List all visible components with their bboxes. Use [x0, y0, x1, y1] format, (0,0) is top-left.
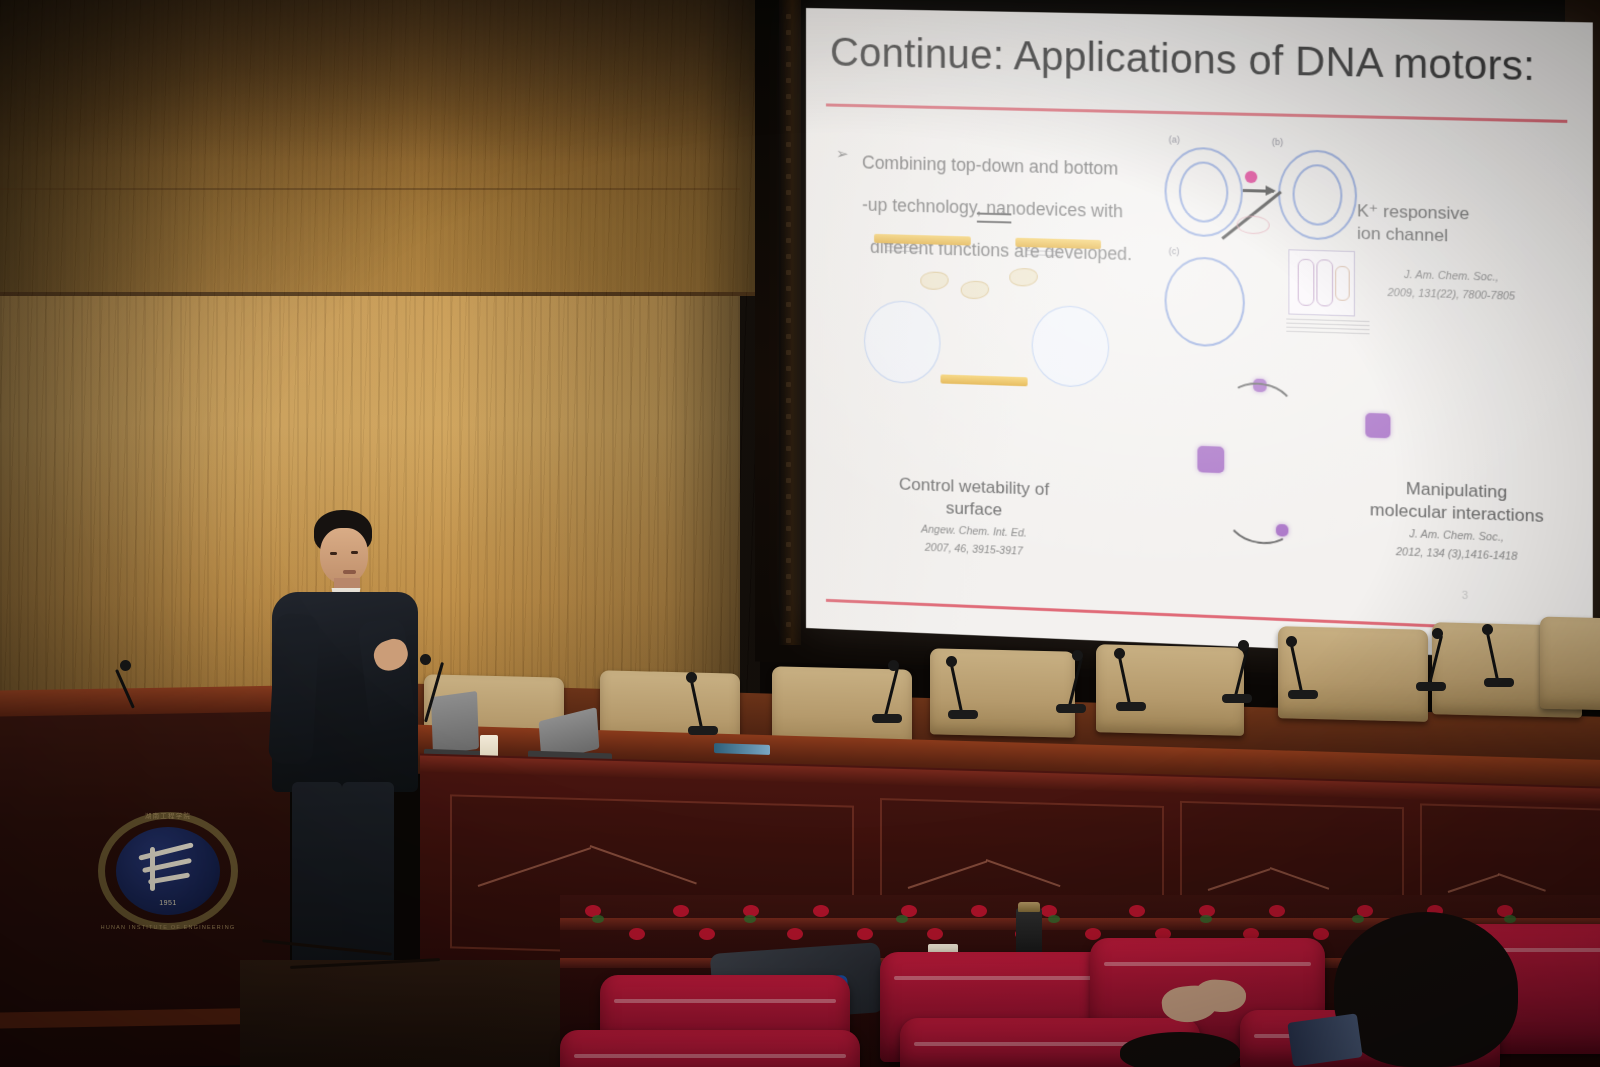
protein-blob-3 [1009, 268, 1037, 287]
tablet-device [714, 743, 770, 755]
slide-rule-top [826, 103, 1567, 123]
batten-perforation [786, 270, 791, 275]
audience-person-head-2 [1120, 1032, 1240, 1067]
caption-molecular-ref1: J. Am. Chem. Soc., [1347, 526, 1568, 548]
emblem-year: 1951 [116, 900, 220, 907]
lectern-top-surface [0, 685, 295, 716]
batten-perforation [786, 590, 791, 595]
batten-perforation [786, 430, 791, 435]
audience-seat-piping [614, 999, 836, 1003]
thermos-cap [1018, 902, 1040, 912]
batten-perforation [786, 366, 791, 371]
inset-structure-box [1288, 249, 1355, 316]
reaction-arrow-icon [1243, 189, 1274, 193]
table-microphone-head [946, 656, 957, 667]
batten-perforation [786, 158, 791, 163]
batten-perforation [786, 110, 791, 115]
table-microphone-base [948, 710, 978, 719]
batten-perforation [786, 46, 791, 51]
flower-decoration [1313, 928, 1329, 940]
batten-perforation [786, 190, 791, 195]
batten-perforation [786, 94, 791, 99]
batten-perforation [786, 206, 791, 211]
batten-perforation [786, 318, 791, 323]
slide-page-number: 3 [1462, 590, 1468, 603]
flower-decoration [1269, 905, 1285, 917]
head-table-chair [1540, 617, 1600, 712]
projection-screen: Continue: Applications of DNA motors: ➢ … [806, 8, 1593, 662]
screen-side-batten [779, 0, 801, 645]
cycle-arrow-bottom-icon [1223, 489, 1298, 549]
table-microphone-head [1238, 640, 1249, 651]
batten-perforation [786, 222, 791, 227]
batten-perforation [786, 526, 791, 531]
batten-perforation [786, 254, 791, 259]
batten-perforation [786, 126, 791, 131]
leaf-decoration [744, 915, 756, 923]
table-microphone-head [686, 672, 697, 683]
slide-title: Continue: Applications of DNA motors: [830, 30, 1582, 91]
table-microphone-base [872, 714, 902, 723]
batten-perforation [786, 142, 791, 147]
imotif-callout-left [864, 300, 940, 385]
gold-substrate-bottom [941, 374, 1028, 386]
batten-perforation [786, 174, 791, 179]
wall-panel-upper [0, 0, 760, 296]
caption-ion-channel: K⁺ responsive ion channel J. Am. Chem. S… [1357, 200, 1546, 305]
wall-seam-secondary [0, 188, 740, 190]
cargo-molecule-bottom [1276, 524, 1288, 537]
batten-perforation [786, 334, 791, 339]
protein-blob-2 [961, 280, 989, 299]
table-microphone-head [1114, 648, 1125, 659]
table-microphone-head [1072, 650, 1083, 661]
table-microphone-base [1056, 704, 1086, 713]
lectern-microphone-head [120, 660, 131, 671]
figure-wetability [864, 181, 1107, 390]
cycle-arrow-top-icon [1223, 377, 1298, 437]
wall-seam [0, 292, 755, 296]
caption-ion-channel-ref2: 2009, 131(22), 7800-7805 [1357, 286, 1546, 305]
presenter-face [320, 528, 368, 584]
table-microphone-base [1484, 678, 1514, 687]
table-microphone-base [1416, 682, 1446, 691]
protein-blob-1 [920, 271, 948, 290]
leaf-decoration [896, 915, 908, 923]
emblem-disc: 1951 [116, 827, 220, 915]
batten-perforation [786, 462, 791, 467]
equilibrium-arrow-icon [977, 213, 1011, 216]
flower-decoration [787, 928, 803, 940]
batten-perforation [786, 510, 791, 515]
audience-seat-piping [574, 1054, 846, 1058]
table-microphone-base [1288, 690, 1318, 699]
flower-decoration [629, 928, 645, 940]
panel-label-c: (c) [1169, 246, 1180, 256]
table-microphone-head [888, 660, 899, 671]
leaf-decoration [592, 915, 604, 923]
caption-wetability-ref1: Angew. Chem. Int. Ed. [868, 521, 1080, 542]
presenter-left-arm [268, 613, 320, 765]
batten-perforation [786, 638, 791, 643]
batten-perforation [786, 30, 791, 35]
batten-perforation [786, 62, 791, 67]
table-microphone-head [1432, 628, 1443, 639]
caption-ion-channel-ref1: J. Am. Chem. Soc., [1357, 267, 1546, 286]
table-microphone-head [1286, 636, 1297, 647]
audience-seat-piping [1104, 962, 1311, 966]
figure-caption-microtext [1286, 318, 1369, 337]
batten-perforation [786, 478, 791, 483]
flower-decoration [673, 905, 689, 917]
batten-perforation [786, 606, 791, 611]
nanopore-ring-a-inner [1179, 161, 1228, 223]
batten-perforation [786, 446, 791, 451]
flower-decoration [857, 928, 873, 940]
table-microphone-head [1482, 624, 1493, 635]
presenter-eye-left [330, 552, 337, 555]
panel-label-b: (b) [1272, 137, 1283, 147]
presenter-mouth [343, 570, 356, 574]
batten-perforation [786, 382, 791, 387]
flower-decoration [813, 905, 829, 917]
leaf-decoration [1504, 915, 1516, 923]
batten-perforation [786, 494, 791, 499]
batten-perforation [786, 574, 791, 579]
gold-substrate-left [874, 234, 971, 246]
presenter-eye-right [351, 551, 358, 554]
caption-ion-channel-line2: ion channel [1357, 223, 1546, 251]
batten-perforation [786, 414, 791, 419]
caption-wetability-ref2: 2007, 46, 3915-3917 [868, 539, 1080, 561]
caption-wetability: Control wetability of surface Angew. Che… [868, 472, 1080, 561]
batten-perforation [786, 238, 791, 243]
lecture-hall-photo: Continue: Applications of DNA motors: ➢ … [0, 0, 1600, 1067]
institution-emblem: 1951 湖南工程学院 HUNAN INSTITUTE OF ENGINEERI… [98, 812, 238, 930]
equilibrium-arrow-icon-2 [977, 221, 1011, 224]
batten-perforation [786, 78, 791, 83]
flower-decoration [971, 905, 987, 917]
leaf-decoration [1048, 915, 1060, 923]
laptop-screen-1 [431, 691, 479, 755]
emblem-institution-cn: 湖南工程学院 [98, 810, 238, 820]
head-table-chair [1278, 626, 1428, 722]
nanopore-ring-b-inner [1293, 164, 1343, 226]
leaf-decoration [1200, 915, 1212, 923]
batten-perforation [786, 14, 791, 19]
audience-seat [560, 1030, 860, 1067]
batten-perforation [786, 350, 791, 355]
gold-substrate-right [1015, 238, 1101, 249]
batten-perforation [786, 302, 791, 307]
ph-label-right [1026, 250, 1061, 259]
audience-seat-piping [894, 976, 1096, 980]
batten-perforation [786, 558, 791, 563]
caption-molecular-interactions: Manipulating molecular interactions J. A… [1347, 476, 1568, 566]
flower-decoration [1085, 928, 1101, 940]
panel-label-a: (a) [1169, 134, 1180, 144]
flower-decoration [1129, 905, 1145, 917]
table-microphone-base [1222, 694, 1252, 703]
dna-strand-sketch [1237, 215, 1270, 234]
cargo-molecule-left [1197, 446, 1224, 473]
figure-ion-channel: (a) (b) (c) [1156, 134, 1384, 359]
audience-person-head-1 [1334, 912, 1518, 1067]
flower-decoration [927, 928, 943, 940]
ph-label-left [886, 246, 920, 255]
table-microphone-base [1116, 702, 1146, 711]
imotif-callout-right [1032, 305, 1109, 388]
emblem-institution-en: HUNAN INSTITUTE OF ENGINEERING [98, 925, 238, 931]
leaf-decoration [1352, 915, 1364, 923]
table-microphone-head-0 [420, 654, 431, 665]
flower-decoration [699, 928, 715, 940]
batten-perforation [786, 622, 791, 627]
cargo-molecule-right [1365, 413, 1390, 438]
batten-perforation [786, 398, 791, 403]
batten-perforation [786, 542, 791, 547]
caption-molecular-ref2: 2012, 134 (3),1416-1418 [1347, 544, 1568, 566]
batten-perforation [786, 286, 791, 291]
table-microphone-base [688, 726, 718, 735]
potassium-ion-icon [1245, 171, 1257, 184]
nanopore-ring-c [1165, 256, 1245, 348]
